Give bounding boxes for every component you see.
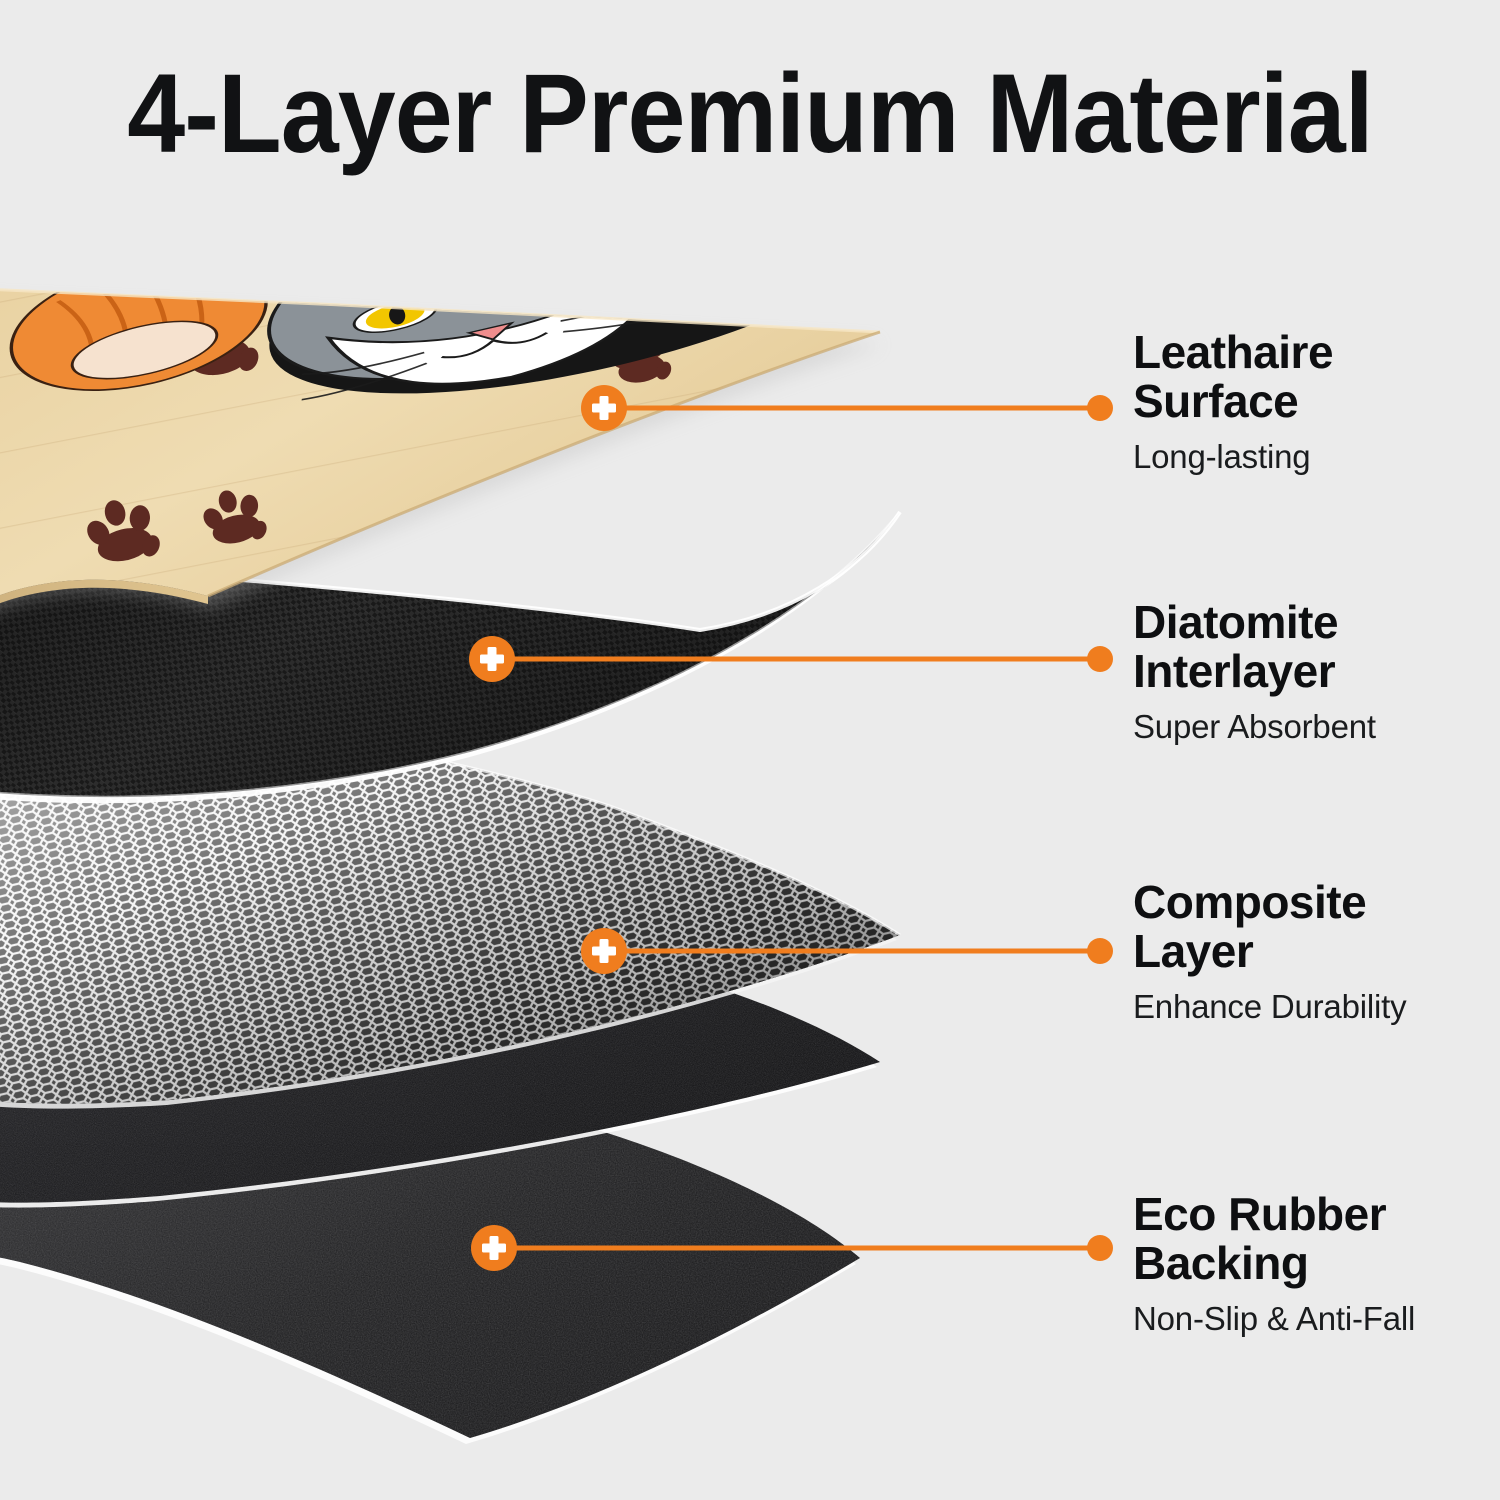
callout-subtitle: Non-Slip & Anti-Fall [1133,1300,1415,1338]
callout-subtitle: Enhance Durability [1133,988,1406,1026]
plus-icon-composite-layer[interactable] [581,928,627,974]
plus-icon-diatomite-interlayer[interactable] [469,636,515,682]
plus-icon-eco-rubber-backing[interactable] [471,1225,517,1271]
callout-diatomite-interlayer: Diatomite Interlayer Super Absorbent [1133,598,1376,746]
infographic-stage: 4-Layer Premium Material [0,0,1500,1500]
layer-leathaire-art [0,0,1476,640]
callout-title: Diatomite Interlayer [1133,598,1376,696]
callout-subtitle: Long-lasting [1133,438,1333,476]
callout-title: Composite Layer [1133,878,1406,976]
callout-subtitle: Super Absorbent [1133,708,1376,746]
callout-title: Eco Rubber Backing [1133,1190,1415,1288]
plus-icon-leathaire-surface[interactable] [581,385,627,431]
callout-title: Leathaire Surface [1133,328,1333,426]
black-cat-silhouette [603,0,1471,341]
callout-leathaire-surface: Leathaire Surface Long-lasting [1133,328,1333,476]
callout-composite-layer: Composite Layer Enhance Durability [1133,878,1406,1026]
callout-eco-rubber-backing: Eco Rubber Backing Non-Slip & Anti-Fall [1133,1190,1415,1338]
